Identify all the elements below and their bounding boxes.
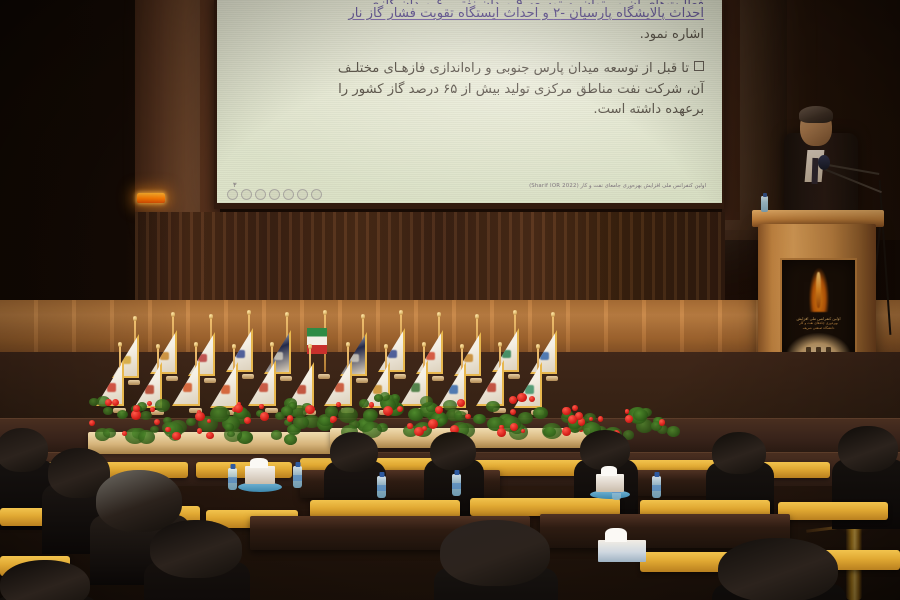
red-flower [287,415,293,421]
flag-emblem-icon [160,352,169,360]
flower-bush [86,396,344,442]
tissue-sheet [601,466,617,476]
slide-content: فعالیت‌های آن می‌توان به توسعه ۹ میدان ن… [217,0,722,203]
foliage [117,410,129,419]
slide-bullet-line-1: تا قبل از توسعه میدان پارس جنوبی و راه‌ا… [338,61,689,76]
flag-emblem-icon [221,385,230,394]
foliage [542,423,562,439]
slide-line-2: اشاره نمود. [640,27,704,42]
red-flower [369,402,375,408]
slide-line-1: احداث پالایشگاه پارسیان -۲ و احداث ایستگ… [348,6,704,21]
foliage [284,434,297,445]
tissue-box [598,540,646,562]
red-flower [428,419,438,429]
flag-emblem-icon [335,383,344,392]
flag-emblem-icon [107,383,116,392]
red-flower [383,406,393,416]
slide-page-number: ۳ [233,181,237,189]
audience-member-head [838,426,898,472]
red-flower [589,417,593,421]
tissue-sheet [605,528,627,542]
flag-emblem-icon [502,350,511,358]
slide-bullet-line-2: آن، شرکت نفت مناطق مرکزی تولید بیش از ۶۵… [338,82,704,97]
red-flower [330,416,336,422]
red-flower [105,399,112,406]
water-bottle [761,196,768,212]
red-flower [517,393,527,403]
flag-emblem-icon [411,383,420,392]
water-bottle [293,466,302,488]
red-flower [147,401,152,406]
conference-hall-photo: فعالیت‌های آن می‌توان به توسعه ۹ میدان ن… [0,0,900,600]
foliage [437,417,447,425]
foliage [374,394,384,402]
audience-member-head [0,560,90,600]
water-bottle [228,468,237,490]
audience-member-head [580,430,630,470]
red-flower [510,409,516,415]
sponsor-logo-icon [269,189,280,200]
foliage [186,418,196,426]
flag-emblem-icon [297,385,306,394]
tissue-box [245,466,275,484]
red-flower [122,431,127,436]
foliage [359,399,370,408]
red-flower [457,399,465,407]
audience-member-head [718,538,838,600]
water-bottle [652,476,661,498]
foliage [155,399,170,411]
flame-logo-icon [809,268,829,312]
tissue-sheet [250,458,268,468]
foliage [338,407,358,423]
audience-member-head [150,520,242,578]
red-flower [89,420,95,426]
slide-bullet-line-3: برعهده داشته است. [593,102,704,117]
red-flower [562,407,571,416]
foliage [533,407,547,419]
sponsor-logo-icon [227,189,238,200]
red-flower [172,432,181,441]
flag-emblem-icon [236,350,245,358]
foliage [103,428,116,439]
banner-text-block: اولین کنفرانس ملی افزایش بهره‌وری چاه‌ها… [788,316,849,331]
sponsor-logo-icon [297,189,308,200]
foliage [667,426,680,437]
microphone-icon [818,155,830,170]
red-flower [195,412,205,422]
red-flower [150,407,154,411]
podium-conference-banner: اولین کنفرانس ملی افزایش بهره‌وری چاه‌ها… [780,258,857,358]
foliage [420,396,434,407]
red-flower [197,428,203,434]
slide-footer-text: اولین کنفرانس ملی افزایش بهره‌وری جامعای… [529,183,706,189]
foliage [138,430,155,444]
flag-emblem-icon [350,354,359,362]
red-flower [598,416,603,421]
tissue-box [596,474,624,492]
sponsor-logo-icon [283,189,294,200]
flag-emblem-icon [145,385,154,394]
red-flower [305,405,314,414]
foliage [140,411,152,421]
red-flower [260,412,269,421]
red-flower [529,396,535,402]
foliage [486,401,499,412]
red-flower [465,414,471,420]
speaker-hair [799,106,833,123]
flag-emblem-icon [487,383,496,392]
foliage [293,416,309,429]
red-flower [154,419,160,425]
foliage [103,407,114,416]
audience-member-head [430,432,476,470]
audience-member-head [712,432,766,474]
amber-wall-light [137,193,165,203]
flag-emblem-icon [388,350,397,358]
flag-emblem-icon [183,383,192,392]
flag-emblem-icon [464,354,473,362]
slide-bullet-icon [694,61,704,71]
red-flower [244,417,251,424]
red-flower [497,428,506,437]
auditorium-seat[interactable] [778,502,888,520]
wall-pillar-right [722,0,787,230]
sponsor-logo-icon [255,189,266,200]
flower-bush [330,392,592,436]
auditorium-seat[interactable] [196,462,292,478]
banner-line-3: دانشگاه صنعتی شریف [788,326,849,331]
red-flower [568,415,577,424]
red-flower [510,423,518,431]
red-flower [509,396,517,404]
projection-screen: فعالیت‌های آن می‌توان به توسعه ۹ میدان ن… [217,0,722,203]
red-flower [206,432,213,439]
red-flower [133,405,139,411]
sponsor-logo-icon [311,189,322,200]
red-flower [131,410,140,419]
audience-member-head [440,520,550,586]
foliage [473,414,485,424]
red-flower [336,402,341,407]
flag-emblem-icon [259,383,268,392]
red-flower [625,415,633,423]
audience-member-head [330,432,378,472]
red-flower [407,423,412,428]
foliage [281,406,293,415]
sponsor-logo-icon [241,189,252,200]
audience-member-head [0,428,48,472]
red-flower [112,399,119,406]
audience-member-head [96,470,182,532]
flag-emblem-icon [274,352,283,360]
red-flower [259,404,263,408]
water-bottle [452,474,461,496]
flag-emblem-icon [426,352,435,360]
flag-emblem-icon [198,354,207,362]
red-flower [659,419,666,426]
flag-stand [546,376,558,381]
red-flower [625,409,629,413]
foliage [271,430,282,439]
water-bottle [377,476,386,498]
slide-footer: اولین کنفرانس ملی افزایش بهره‌وری جامعای… [217,181,722,189]
flag-emblem-icon [540,352,549,360]
slide-sponsor-logos [227,189,322,200]
foliage [363,409,378,421]
